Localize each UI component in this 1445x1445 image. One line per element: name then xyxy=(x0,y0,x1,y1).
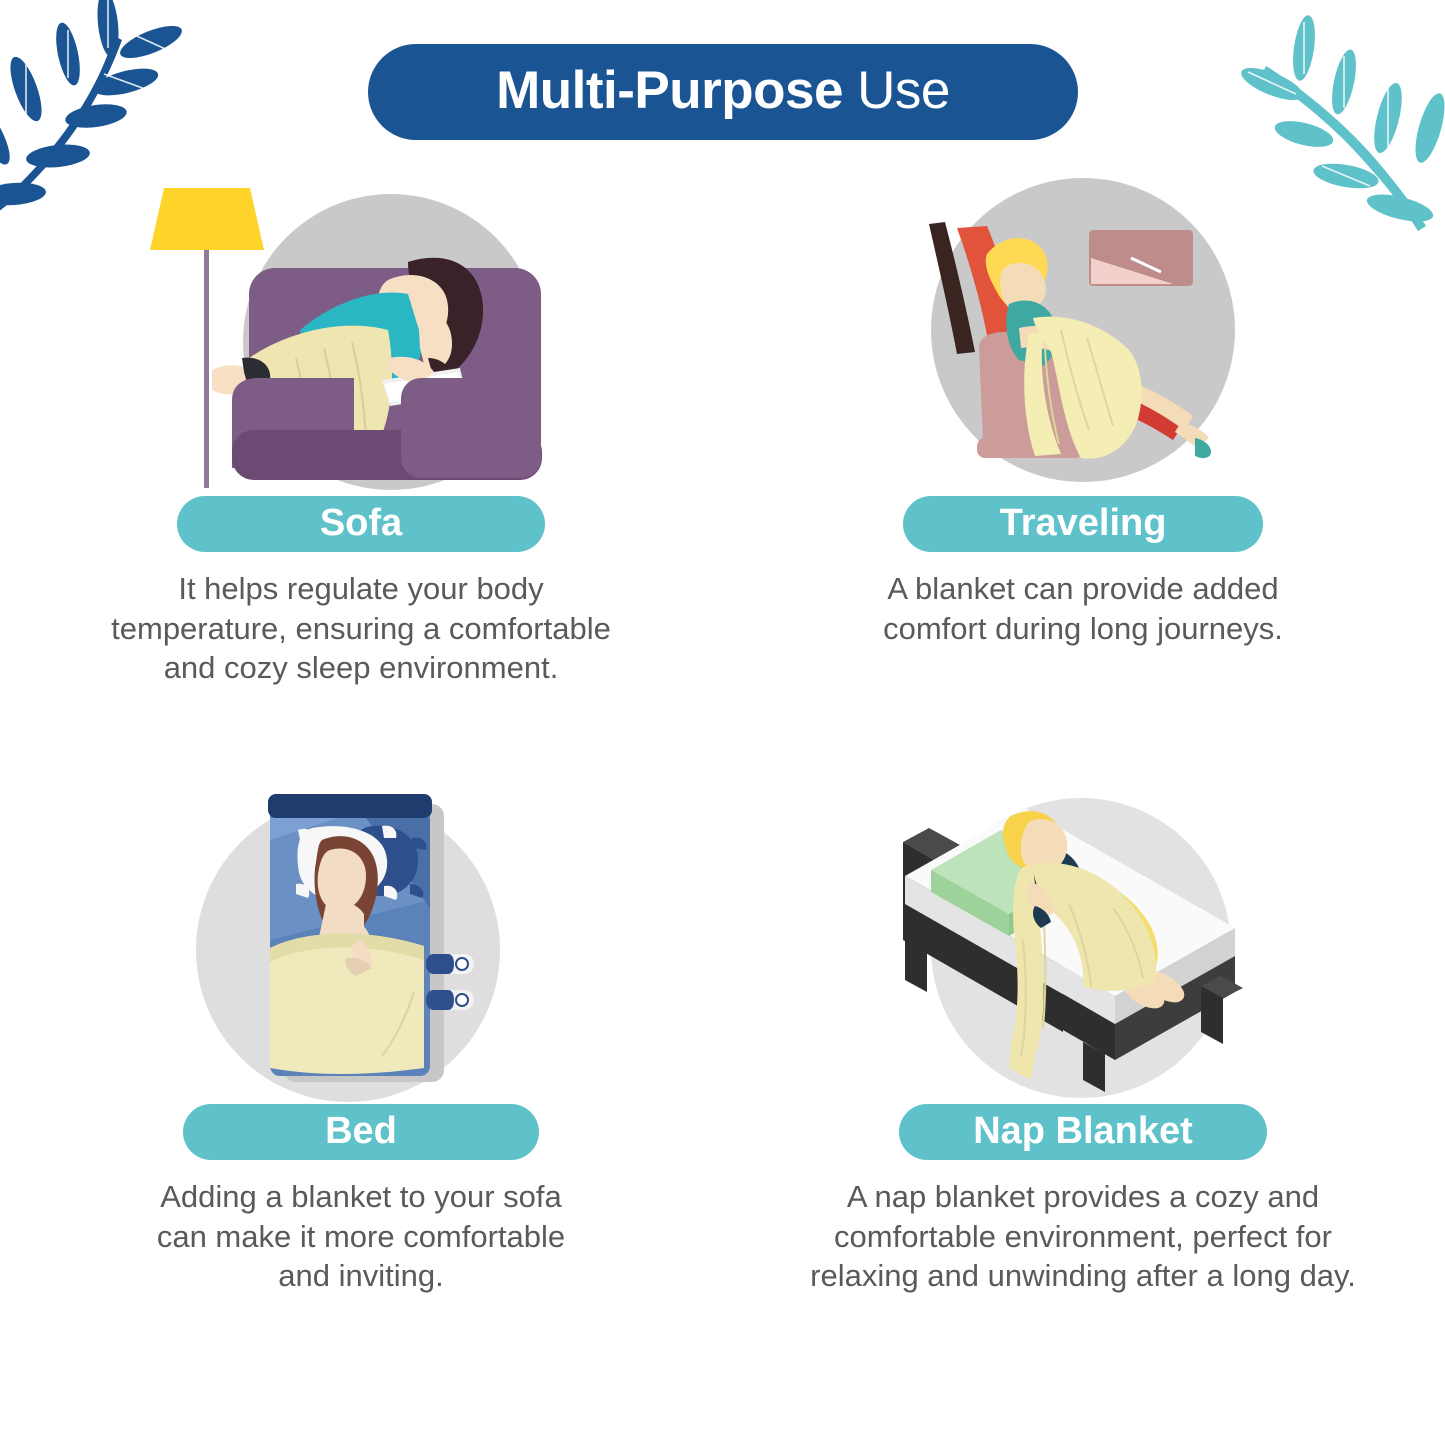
card-sofa: Sofa It helps regulate your body tempera… xyxy=(0,172,722,688)
nap-label-wrap: Nap Blanket xyxy=(722,1104,1444,1160)
caption-nap-blanket: A nap blanket provides a cozy and comfor… xyxy=(722,1177,1444,1296)
bed-label-wrap: Bed xyxy=(0,1104,722,1160)
card-row-bottom: Bed Adding a blanket to your sofa can ma… xyxy=(0,780,1445,1296)
card-bed: Bed Adding a blanket to your sofa can ma… xyxy=(0,780,722,1296)
label-nap-blanket: Nap Blanket xyxy=(973,1112,1193,1153)
card-row-top: Sofa It helps regulate your body tempera… xyxy=(0,172,1445,688)
sofa-label-wrap: Sofa xyxy=(0,496,722,552)
caption-traveling: A blanket can provide added comfort duri… xyxy=(722,569,1444,648)
page-title-strong: Multi-Purpose xyxy=(496,61,843,120)
bed-illustration-area xyxy=(0,780,722,1110)
woman-reclining-in-seat-icon xyxy=(893,172,1273,502)
card-grid: Sofa It helps regulate your body tempera… xyxy=(0,172,1445,1296)
woman-sleeping-in-bed-icon xyxy=(166,780,556,1110)
card-traveling: Traveling A blanket can provide added co… xyxy=(722,172,1444,688)
label-sofa: Sofa xyxy=(320,504,402,545)
label-traveling: Traveling xyxy=(1000,504,1167,545)
caption-bed: Adding a blanket to your sofa can make i… xyxy=(0,1177,722,1296)
label-pill-bed[interactable]: Bed xyxy=(183,1104,539,1160)
woman-napping-on-bed-icon xyxy=(883,780,1283,1110)
label-pill-sofa[interactable]: Sofa xyxy=(177,496,545,552)
label-pill-traveling[interactable]: Traveling xyxy=(903,496,1263,552)
woman-on-sofa-with-blanket-icon xyxy=(146,172,576,502)
label-pill-nap[interactable]: Nap Blanket xyxy=(899,1104,1267,1160)
caption-sofa: It helps regulate your body temperature,… xyxy=(0,569,722,688)
page-title: Multi-Purpose Use xyxy=(496,64,950,121)
label-bed: Bed xyxy=(325,1112,397,1153)
page-title-pill: Multi-Purpose Use xyxy=(368,44,1078,140)
page-title-light: Use xyxy=(843,61,950,120)
card-nap: Nap Blanket A nap blanket provides a coz… xyxy=(722,780,1444,1296)
nap-illustration-area xyxy=(722,780,1444,1110)
traveling-illustration-area xyxy=(722,172,1444,502)
sofa-illustration-area xyxy=(0,172,722,502)
traveling-label-wrap: Traveling xyxy=(722,496,1444,552)
